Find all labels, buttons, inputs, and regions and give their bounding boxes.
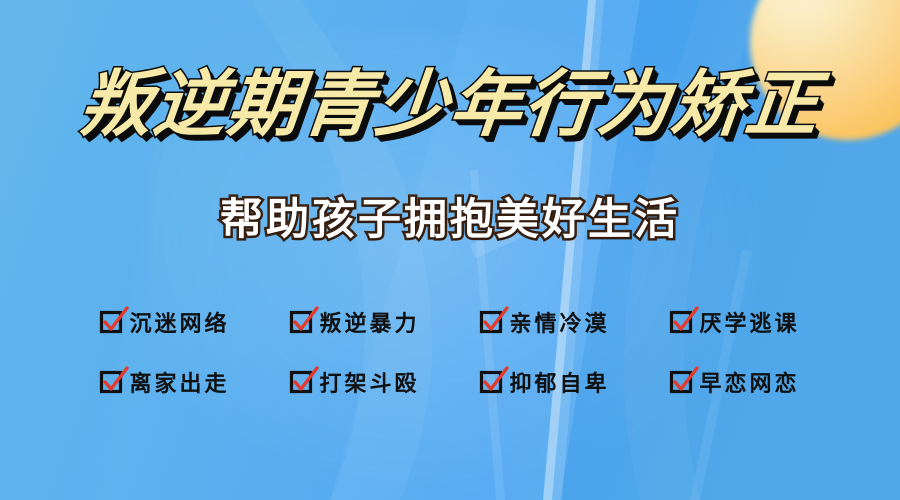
issue-checklist: 沉迷网络 叛逆暴力 亲情冷漠: [70, 292, 830, 412]
checkbox-checked-icon[interactable]: [480, 371, 502, 393]
checkbox-checked-icon[interactable]: [670, 371, 692, 393]
checklist-item-label: 沉迷网络: [129, 306, 229, 338]
checklist-item-taoke[interactable]: 厌学逃课: [640, 306, 830, 338]
subtitle-container: 帮助孩子拥抱美好生活: [0, 199, 900, 242]
checklist-item-label: 打架斗殴: [319, 366, 419, 398]
promo-poster: 叛逆期青少年行为矫正 帮助孩子拥抱美好生活 沉迷网络: [0, 0, 900, 500]
checklist-item-label: 叛逆暴力: [319, 306, 419, 338]
checklist-item-label: 早恋网恋: [699, 366, 799, 398]
checkbox-checked-icon[interactable]: [480, 311, 502, 333]
checklist-item-zaolian[interactable]: 早恋网恋: [640, 366, 830, 398]
checkbox-checked-icon[interactable]: [100, 371, 122, 393]
title-container: 叛逆期青少年行为矫正: [0, 68, 900, 140]
checklist-item-label: 抑郁自卑: [509, 366, 609, 398]
checklist-item-label: 离家出走: [129, 366, 229, 398]
checklist-item-label: 亲情冷漠: [509, 306, 609, 338]
checklist-item-lengmo[interactable]: 亲情冷漠: [450, 306, 640, 338]
checkbox-checked-icon[interactable]: [670, 311, 692, 333]
checklist-item-lijia[interactable]: 离家出走: [70, 366, 260, 398]
checkbox-checked-icon[interactable]: [290, 371, 312, 393]
checkbox-checked-icon[interactable]: [100, 311, 122, 333]
page-subtitle: 帮助孩子拥抱美好生活: [220, 199, 680, 242]
checklist-item-label: 厌学逃课: [699, 306, 799, 338]
checklist-item-wangluo[interactable]: 沉迷网络: [70, 306, 260, 338]
checklist-item-dajia[interactable]: 打架斗殴: [260, 366, 450, 398]
page-title: 叛逆期青少年行为矫正: [76, 68, 824, 140]
checklist-row: 离家出走 打架斗殴 抑郁自卑: [70, 352, 830, 412]
checklist-item-baoli[interactable]: 叛逆暴力: [260, 306, 450, 338]
checkbox-checked-icon[interactable]: [290, 311, 312, 333]
checklist-item-yiyu[interactable]: 抑郁自卑: [450, 366, 640, 398]
checklist-row: 沉迷网络 叛逆暴力 亲情冷漠: [70, 292, 830, 352]
